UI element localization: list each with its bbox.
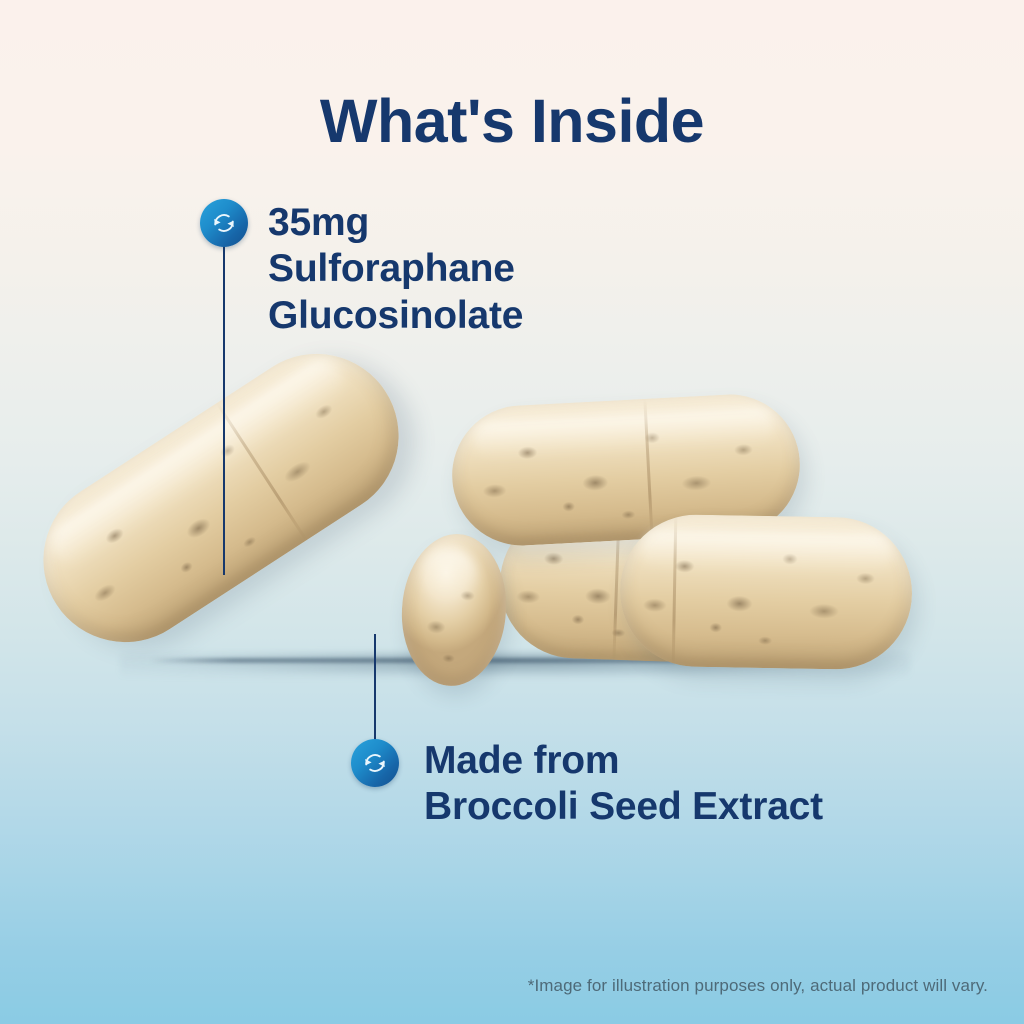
callout-1-leader-line bbox=[223, 243, 225, 575]
product-capsules-image bbox=[0, 390, 1024, 690]
disclaimer-footnote: *Image for illustration purposes only, a… bbox=[528, 976, 988, 996]
capsule-diagonal-left bbox=[12, 322, 430, 673]
infographic-canvas: What's Inside 35mg Sulforaphane Glucosin… bbox=[0, 0, 1024, 1024]
capsule-front-right bbox=[619, 513, 914, 670]
callout-2-leader-line bbox=[374, 634, 376, 744]
callout-1-cycle-arrows-icon bbox=[200, 199, 248, 247]
page-title: What's Inside bbox=[0, 89, 1024, 153]
callout-1-label: 35mg Sulforaphane Glucosinolate bbox=[268, 200, 523, 339]
callout-2-cycle-arrows-icon bbox=[351, 739, 399, 787]
callout-2-label: Made from Broccoli Seed Extract bbox=[424, 738, 823, 831]
